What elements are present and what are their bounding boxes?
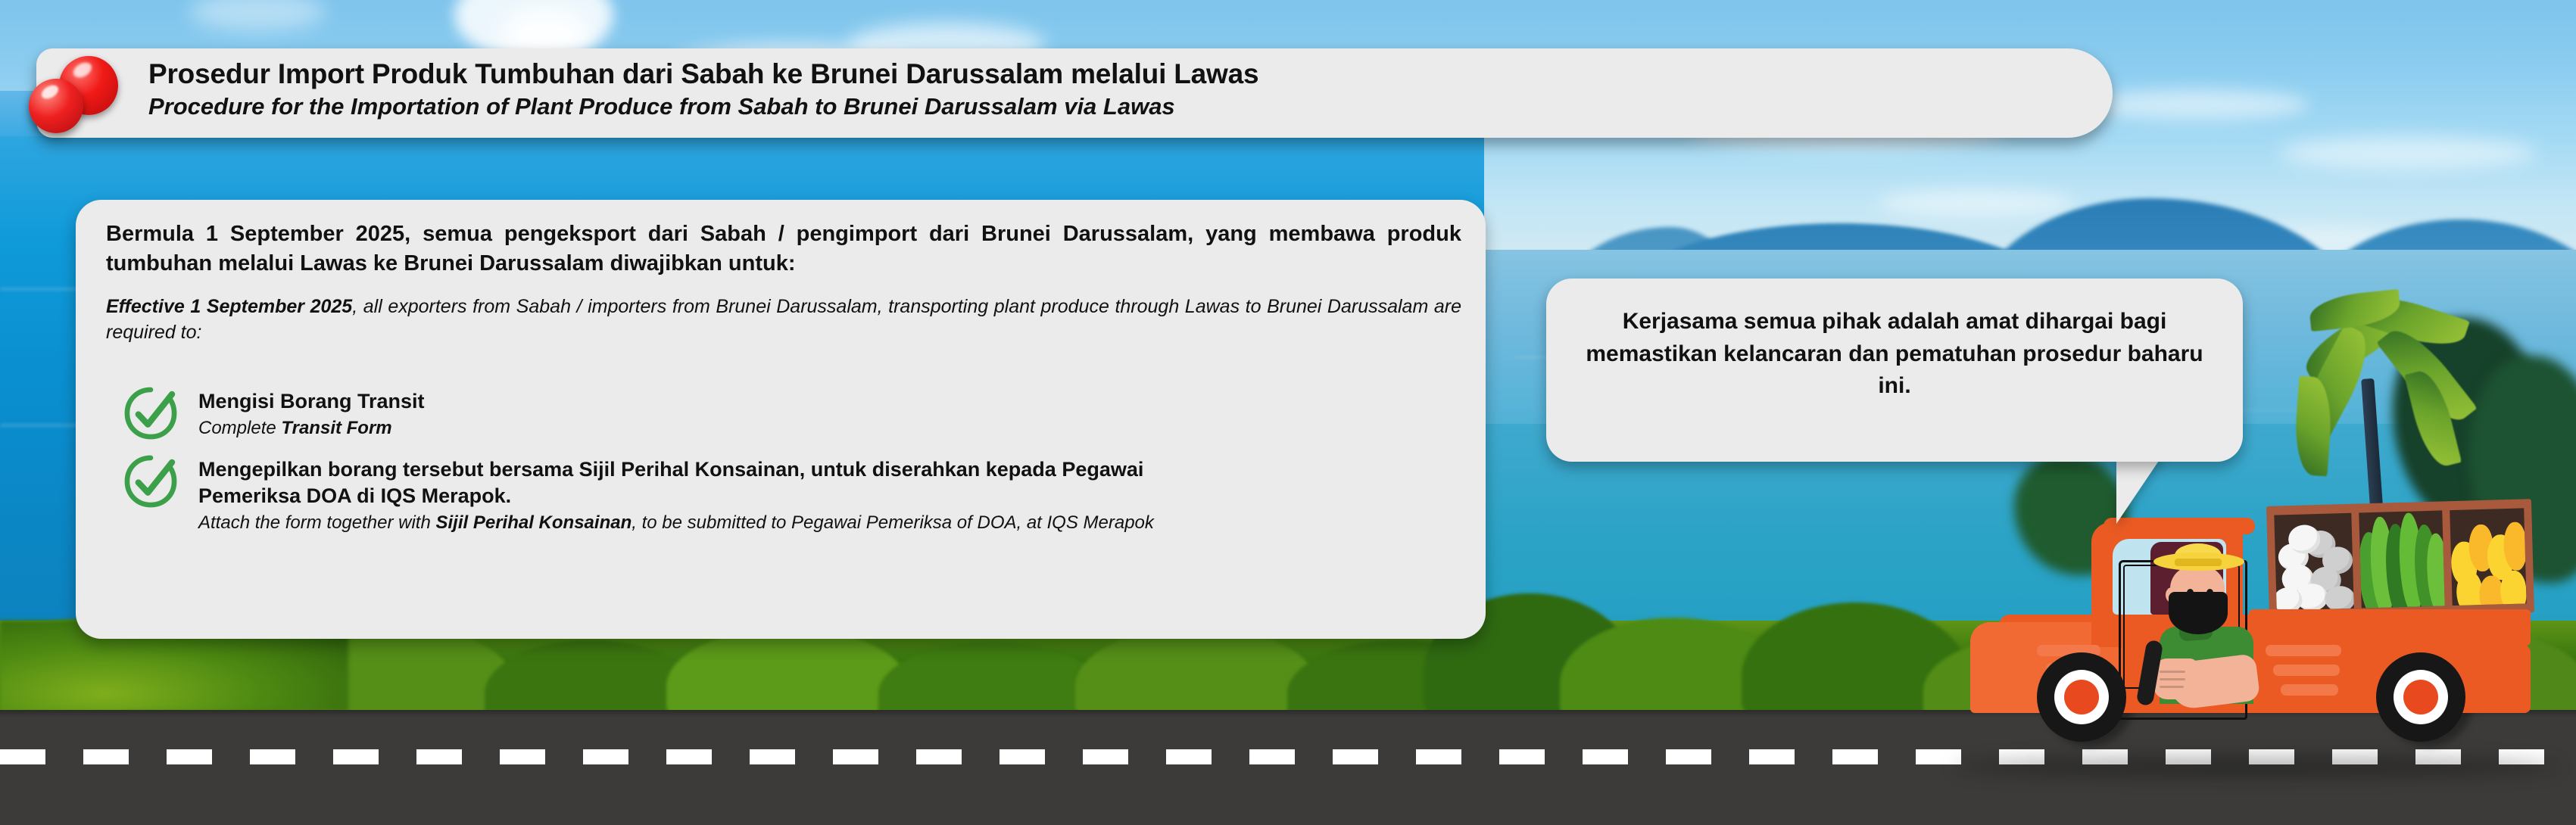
effective-date-ms: Bermula 1 September 2025, bbox=[106, 222, 410, 246]
leafy-vegetables-crate-cell bbox=[2359, 510, 2444, 608]
truck-wheel-hub bbox=[2064, 680, 2099, 714]
speech-bubble-text: Kerjasama semua pihak adalah amat diharg… bbox=[1573, 306, 2216, 403]
green-check-circle-icon bbox=[123, 385, 179, 441]
driver-figure bbox=[2137, 545, 2281, 696]
requirements-list: Mengisi Borang Transit Complete Transit … bbox=[123, 384, 1455, 545]
requirement-title-ms: Mengisi Borang Transit bbox=[198, 388, 1455, 415]
header-banner: Prosedur Import Produk Tumbuhan dari Sab… bbox=[36, 48, 2113, 138]
speech-bubble-tail bbox=[2116, 454, 2163, 524]
effective-date-en: Effective 1 September 2025 bbox=[106, 296, 352, 317]
poster-canvas: Prosedur Import Produk Tumbuhan dari Sab… bbox=[0, 0, 2576, 825]
page-title-ms: Prosedur Import Produk Tumbuhan dari Sab… bbox=[148, 58, 2087, 91]
lead-paragraph-en: Effective 1 September 2025, all exporter… bbox=[106, 294, 1461, 345]
requirement-title-ms: Mengepilkan borang tersebut bersama Siji… bbox=[198, 456, 1183, 509]
cloud bbox=[1878, 189, 2075, 216]
mangoes-crate-cell bbox=[2450, 508, 2526, 606]
list-item: Mengepilkan borang tersebut bersama Siji… bbox=[123, 452, 1455, 534]
requirement-title-en: Complete Transit Form bbox=[198, 416, 1455, 440]
req-en-post: , to be submitted to Pegawai Pemeriksa o… bbox=[632, 512, 1154, 533]
cargo-crate bbox=[2266, 499, 2534, 620]
cloud bbox=[2082, 89, 2309, 120]
req-en-bold: Transit Form bbox=[281, 418, 391, 438]
list-item: Mengisi Borang Transit Complete Transit … bbox=[123, 384, 1455, 441]
cloud bbox=[2279, 136, 2537, 170]
speech-bubble: Kerjasama semua pihak adalah amat diharg… bbox=[1546, 279, 2243, 462]
page-title-en: Procedure for the Importation of Plant P… bbox=[148, 92, 2087, 120]
pushpin-icon bbox=[23, 50, 129, 145]
truck-wheel-hub bbox=[2403, 680, 2438, 714]
green-check-circle-icon bbox=[123, 453, 179, 509]
delivery-truck-illustration bbox=[1923, 454, 2576, 772]
main-content-card: Bermula 1 September 2025, semua pengeksp… bbox=[76, 200, 1486, 639]
req-en-bold: Sijil Perihal Konsainan bbox=[436, 512, 632, 533]
req-en-pre: Complete bbox=[198, 418, 281, 438]
lead-paragraph-ms: Bermula 1 September 2025, semua pengeksp… bbox=[106, 219, 1461, 278]
onions-crate-cell bbox=[2274, 513, 2353, 611]
req-en-pre: Attach the form together with bbox=[198, 512, 436, 533]
requirement-title-en: Attach the form together with Sijil Peri… bbox=[198, 511, 1168, 534]
